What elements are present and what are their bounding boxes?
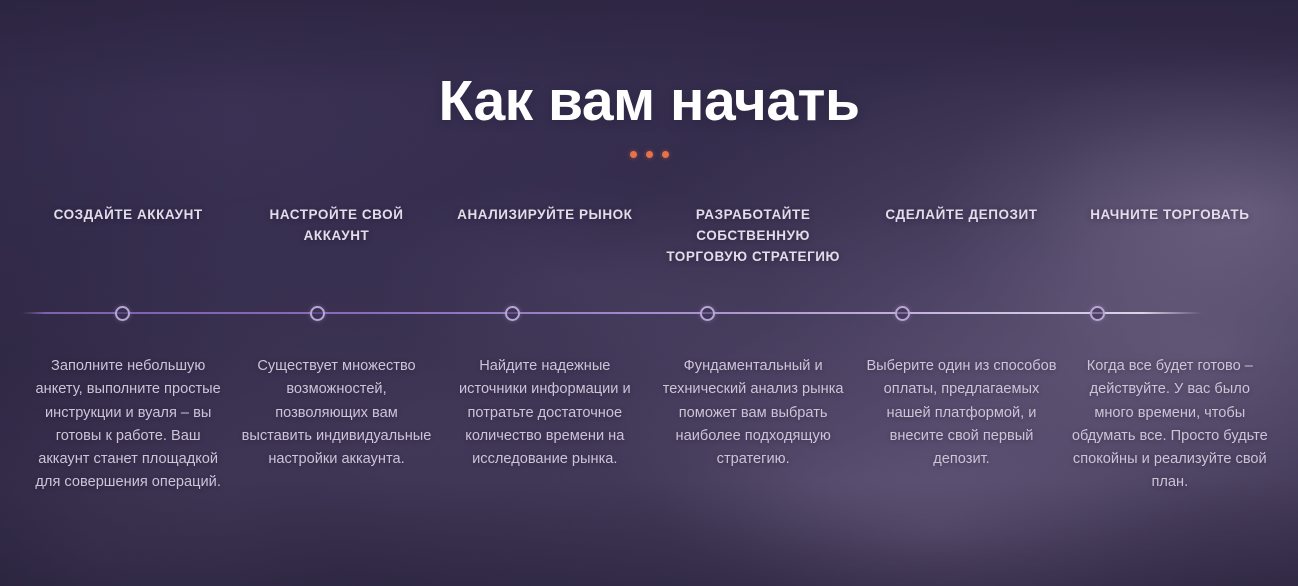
step-title: АНАЛИЗИРУЙТЕ РЫНОК <box>447 205 643 307</box>
step-title: НАЧНИТЕ ТОРГОВАТЬ <box>1072 205 1268 307</box>
step-description: Заполните небольшую анкету, выполните пр… <box>30 307 226 495</box>
step-description: Выберите один из способов оплаты, предла… <box>863 307 1059 471</box>
steps-grid: СОЗДАЙТЕ АККАУНТ Заполните небольшую анк… <box>24 205 1274 495</box>
step-title: РАЗРАБОТАЙТЕ СОБСТВЕННУЮ ТОРГОВУЮ СТРАТЕ… <box>655 205 851 307</box>
divider-dot-icon <box>662 151 669 158</box>
step-5: СДЕЛАЙТЕ ДЕПОЗИТ Выберите один из способ… <box>857 205 1065 495</box>
step-description: Фундаментальный и технический анализ рын… <box>655 307 851 471</box>
step-4: РАЗРАБОТАЙТЕ СОБСТВЕННУЮ ТОРГОВУЮ СТРАТЕ… <box>649 205 857 495</box>
step-description: Существует множество возможностей, позво… <box>238 307 434 471</box>
step-6: НАЧНИТЕ ТОРГОВАТЬ Когда все будет готово… <box>1066 205 1274 495</box>
step-title: СОЗДАЙТЕ АККАУНТ <box>30 205 226 307</box>
page-title: Как вам начать <box>0 72 1298 132</box>
step-title: НАСТРОЙТЕ СВОЙ АККАУНТ <box>238 205 434 307</box>
title-divider-dots <box>0 151 1298 158</box>
divider-dot-icon <box>646 151 653 158</box>
divider-dot-icon <box>630 151 637 158</box>
step-3: АНАЛИЗИРУЙТЕ РЫНОК Найдите надежные исто… <box>441 205 649 495</box>
step-description: Когда все будет готово – действуйте. У в… <box>1072 307 1268 495</box>
how-to-start-section: Как вам начать СОЗДАЙТЕ АККАУНТ Заполнит… <box>0 0 1298 586</box>
step-2: НАСТРОЙТЕ СВОЙ АККАУНТ Существует множес… <box>232 205 440 495</box>
step-description: Найдите надежные источники информации и … <box>447 307 643 471</box>
step-1: СОЗДАЙТЕ АККАУНТ Заполните небольшую анк… <box>24 205 232 495</box>
step-title: СДЕЛАЙТЕ ДЕПОЗИТ <box>863 205 1059 307</box>
